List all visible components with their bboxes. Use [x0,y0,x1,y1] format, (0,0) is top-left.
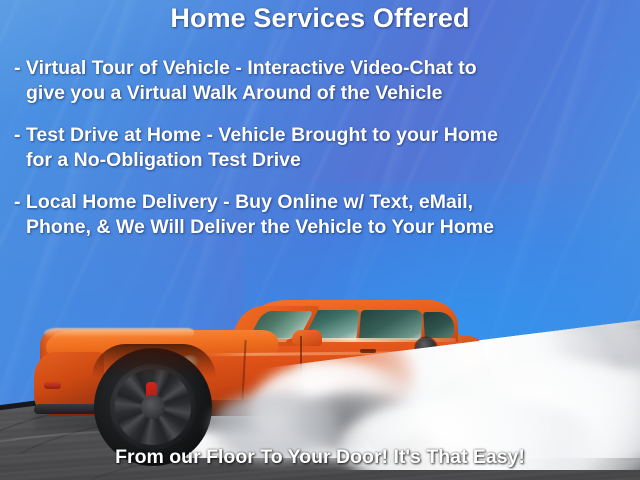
list-item: - Virtual Tour of Vehicle - Interactive … [14,56,626,106]
list-item-line2: for a No-Obligation Test Drive [14,148,626,173]
list-item-line2: give you a Virtual Walk Around of the Ve… [14,81,626,106]
car-side-marker-light [44,382,61,389]
front-wheel-arch-shadow [92,344,216,378]
car-rear-door-glass [359,310,423,340]
tagline: From our Floor To Your Door! It's That E… [0,446,640,469]
list-item-line1: - Local Home Delivery - Buy Online w/ Te… [14,191,473,213]
promo-banner: Home Services Offered - Virtual Tour of … [0,0,640,480]
list-item-line2: Phone, & We Will Deliver the Vehicle to … [14,215,626,240]
car-door-handle [360,349,376,353]
car-hood-highlight [44,328,194,337]
list-item: - Local Home Delivery - Buy Online w/ Te… [14,190,626,240]
list-item: - Test Drive at Home - Vehicle Brought t… [14,123,626,173]
car-side-mirror [292,330,322,346]
list-item-line1: - Virtual Tour of Vehicle - Interactive … [14,57,477,79]
services-list: - Virtual Tour of Vehicle - Interactive … [14,56,626,257]
page-title: Home Services Offered [0,3,640,34]
list-item-line1: - Test Drive at Home - Vehicle Brought t… [14,124,498,146]
